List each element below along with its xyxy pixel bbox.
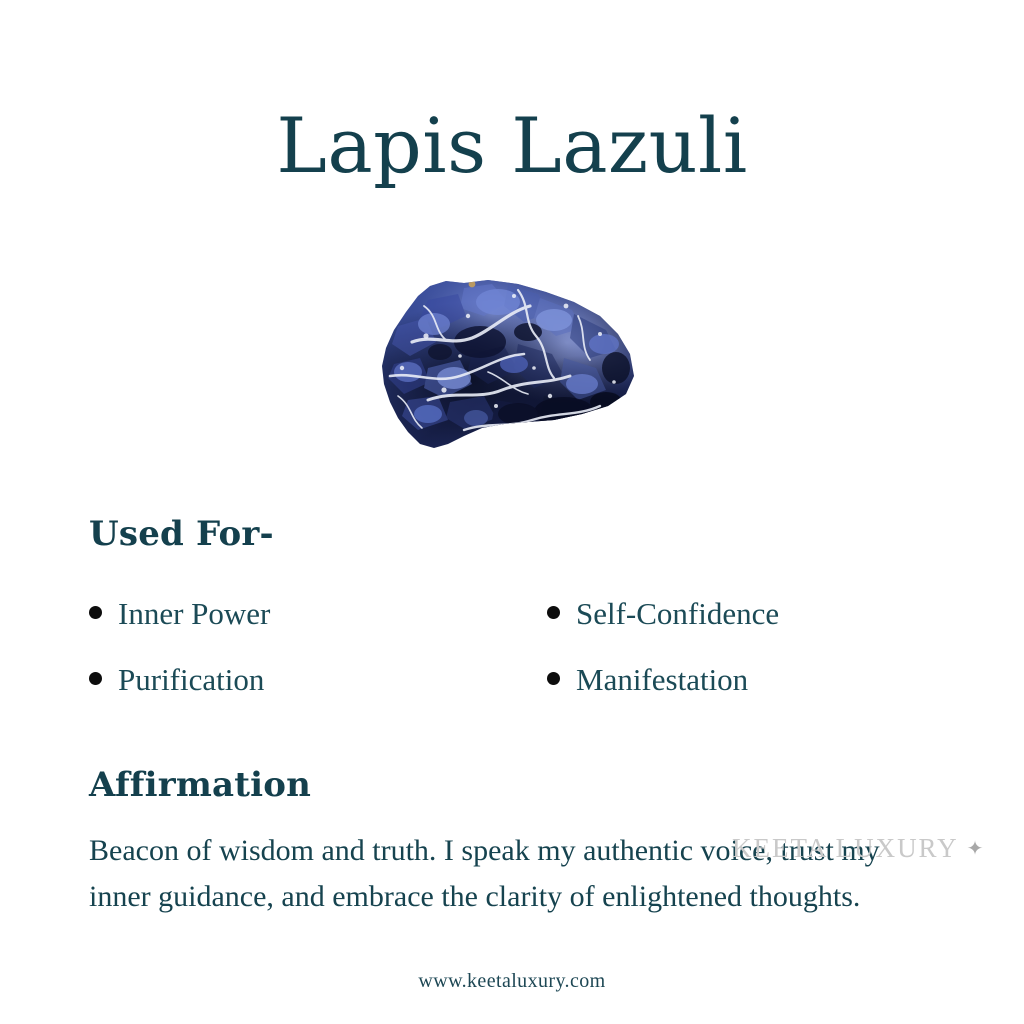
list-item: Manifestation (547, 664, 967, 730)
affirmation-heading: Affirmation (89, 768, 311, 802)
use-label: Self-Confidence (576, 598, 779, 629)
used-for-heading: Used For- (89, 517, 274, 551)
bullet-icon (547, 606, 560, 619)
used-for-left-column: Inner Power Purification (89, 598, 529, 730)
use-label: Purification (118, 664, 264, 695)
bullet-icon (89, 606, 102, 619)
footer-website-url: www.keetaluxury.com (0, 970, 1024, 993)
gemstone-image (368, 272, 644, 458)
sparkle-icon: ✦ (967, 838, 986, 860)
list-item: Inner Power (89, 598, 529, 664)
list-item: Self-Confidence (547, 598, 967, 664)
lapis-lazuli-stone-illustration (368, 272, 644, 458)
crystal-info-card: Lapis Lazuli (0, 0, 1024, 1024)
list-item: Purification (89, 664, 529, 730)
page-title: Lapis Lazuli (0, 108, 1024, 184)
used-for-right-column: Self-Confidence Manifestation (547, 598, 967, 730)
bullet-icon (547, 672, 560, 685)
use-label: Inner Power (118, 598, 270, 629)
bullet-icon (89, 672, 102, 685)
use-label: Manifestation (576, 664, 748, 695)
pyrite-speck (469, 281, 476, 288)
affirmation-text: Beacon of wisdom and truth. I speak my a… (89, 828, 934, 920)
